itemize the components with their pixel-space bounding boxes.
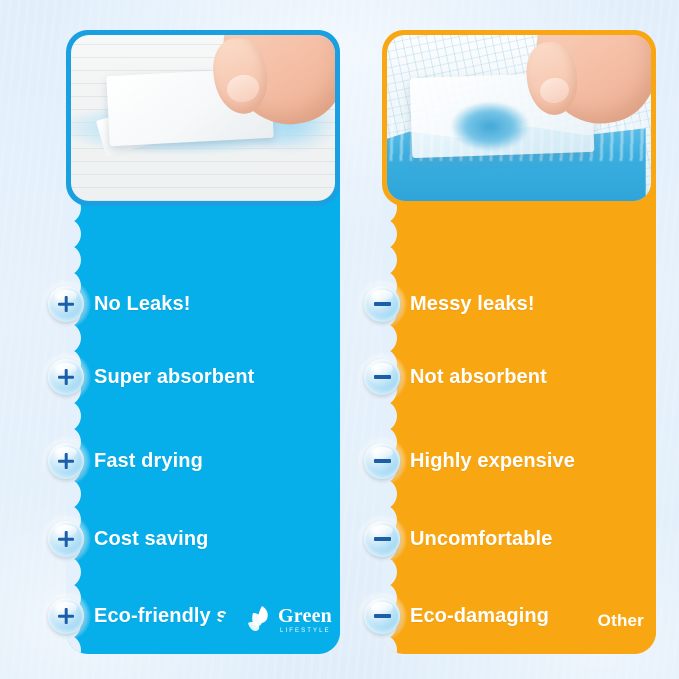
plus-glyph bbox=[58, 531, 74, 547]
brand-subtitle: LIFESTYLE bbox=[280, 628, 332, 634]
plus-icon[interactable] bbox=[48, 286, 84, 322]
brand-logo: Green LIFESTYLE bbox=[246, 604, 332, 636]
plus-icon[interactable] bbox=[48, 443, 84, 479]
feature-label: Not absorbent bbox=[410, 366, 547, 389]
feature-row: Uncomfortable bbox=[382, 519, 656, 559]
product-photo-bad bbox=[387, 35, 651, 201]
plus-glyph bbox=[58, 608, 74, 624]
leak-stain bbox=[445, 98, 535, 154]
minus-icon[interactable] bbox=[364, 521, 400, 557]
feature-label: Eco-damaging bbox=[410, 605, 549, 628]
feature-row: No Leaks! bbox=[66, 284, 340, 324]
feature-label: Cost saving bbox=[94, 528, 208, 551]
leaf-icon bbox=[246, 604, 276, 636]
feature-row: Not absorbent bbox=[382, 357, 656, 397]
minus-glyph bbox=[374, 302, 391, 305]
comparison-panel-other: Other Messy leaks!Not absorbentHighly ex… bbox=[382, 30, 656, 654]
minus-icon[interactable] bbox=[364, 359, 400, 395]
plus-icon[interactable] bbox=[48, 521, 84, 557]
feature-label: Highly expensive bbox=[410, 450, 575, 473]
plus-glyph bbox=[58, 296, 74, 312]
brand-logo-text: Green LIFESTYLE bbox=[278, 606, 332, 634]
comparison-panel-green-lifestyle: Green LIFESTYLE No Leaks!Super absorbent… bbox=[66, 30, 340, 654]
feature-label: No Leaks! bbox=[94, 293, 191, 316]
other-label: Other bbox=[598, 611, 644, 631]
minus-glyph bbox=[374, 375, 391, 378]
product-photo-frame-good bbox=[66, 30, 340, 206]
feature-row: Fast drying bbox=[66, 441, 340, 481]
product-photo-frame-bad bbox=[382, 30, 656, 206]
feature-row: Messy leaks! bbox=[382, 284, 656, 324]
feature-row: Highly expensive bbox=[382, 441, 656, 481]
feature-row: Cost saving bbox=[66, 519, 340, 559]
product-photo-good bbox=[71, 35, 335, 201]
minus-glyph bbox=[374, 537, 391, 540]
plus-glyph bbox=[58, 453, 74, 469]
feature-label: Fast drying bbox=[94, 450, 203, 473]
feature-label: Messy leaks! bbox=[410, 293, 535, 316]
minus-glyph bbox=[374, 614, 391, 617]
feature-label: Super absorbent bbox=[94, 366, 254, 389]
minus-icon[interactable] bbox=[364, 598, 400, 634]
plus-icon[interactable] bbox=[48, 598, 84, 634]
minus-glyph bbox=[374, 459, 391, 462]
brand-name: Green bbox=[278, 606, 332, 626]
plus-glyph bbox=[58, 369, 74, 385]
feature-label: Uncomfortable bbox=[410, 528, 552, 551]
plus-icon[interactable] bbox=[48, 359, 84, 395]
minus-icon[interactable] bbox=[364, 286, 400, 322]
minus-icon[interactable] bbox=[364, 443, 400, 479]
feature-row: Super absorbent bbox=[66, 357, 340, 397]
